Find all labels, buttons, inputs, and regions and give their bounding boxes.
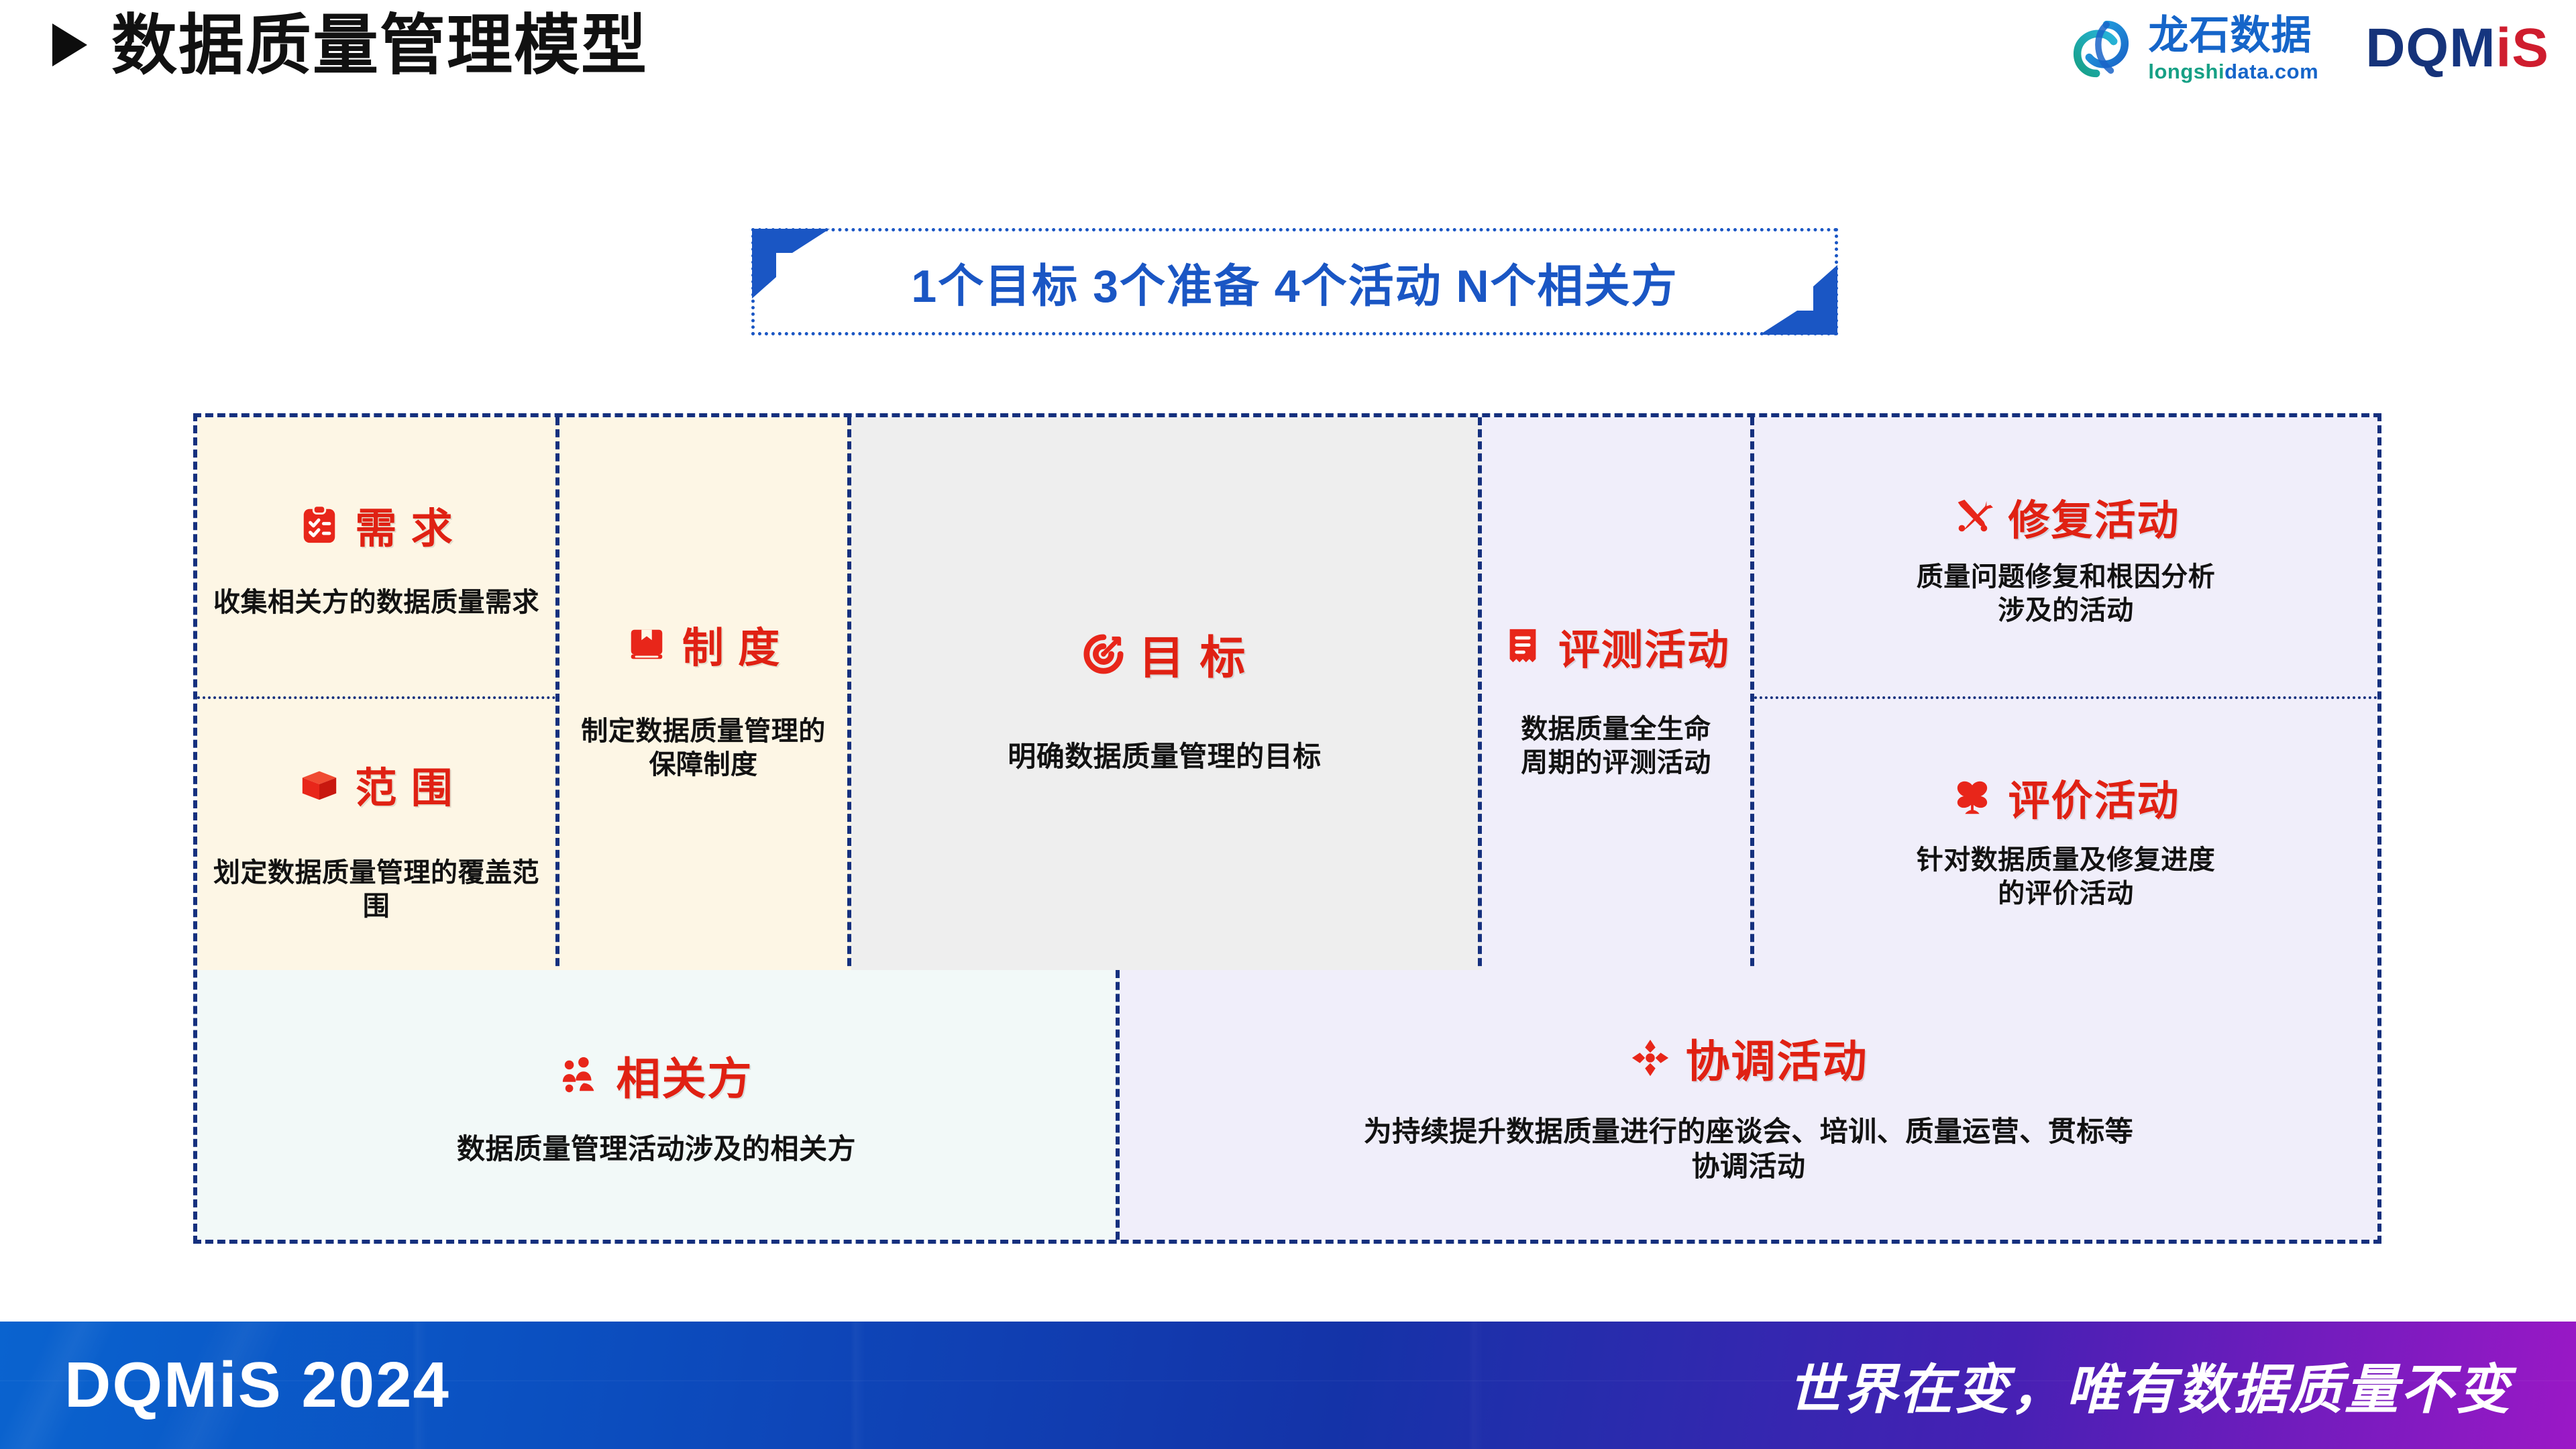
- card-repair-head: 修复活动: [1951, 486, 2180, 547]
- column-evaluation: 评测活动 数据质量全生命 周期的评测活动: [1482, 417, 1754, 978]
- dqmis-logo: DQMiS: [2365, 21, 2549, 76]
- column-stakeholder: 相关方 数据质量管理活动涉及的相关方: [197, 970, 1120, 1240]
- longshi-logo-cn: 龙石数据: [2148, 15, 2318, 56]
- people-group-icon: [560, 1055, 602, 1096]
- card-system-label: 制 度: [682, 614, 781, 674]
- clipboard-checklist-icon: [299, 504, 340, 545]
- card-assessment[interactable]: 评测活动 数据质量全生命 周期的评测活动: [1482, 417, 1750, 978]
- dqmis-logo-s: S: [2512, 17, 2549, 78]
- column-remediation: 修复活动 质量问题修复和根因分析 涉及的活动 评价活动 针对数据质量及修复进度 …: [1754, 417, 2377, 978]
- card-repair-desc: 质量问题修复和根因分析 涉及的活动: [1917, 560, 2216, 627]
- card-scope-head: 范 围: [299, 754, 453, 814]
- corner-accent-icon: [1757, 241, 1837, 335]
- card-assessment-head: 评测活动: [1502, 616, 1730, 676]
- card-appraisal-label: 评价活动: [2008, 767, 2180, 827]
- receipt-document-icon: [1502, 625, 1544, 667]
- card-coordination-label: 协调活动: [1686, 1026, 1868, 1090]
- model-top-row: 需 求 收集相关方的数据质量需求 范 围 划定数据质量管理的覆盖范围: [197, 417, 2377, 978]
- card-scope-label: 范 围: [355, 754, 453, 814]
- summary-banner-text: 1个目标 3个准备 4个活动 N个相关方: [911, 249, 1678, 315]
- footer-slogan: 世界在变，唯有数据质量不变: [1788, 1346, 2512, 1424]
- slide-footer: DQMiS 2024 世界在变，唯有数据质量不变: [0, 1322, 2576, 1449]
- longshi-logo-en-blue: data.com: [2224, 60, 2318, 83]
- card-requirement-label: 需 求: [355, 494, 453, 555]
- page-title: 数据质量管理模型: [111, 12, 648, 78]
- longshi-logo-en-green: longshi: [2148, 60, 2224, 83]
- card-coordination-head: 协调活动: [1629, 1026, 1868, 1090]
- card-assessment-label: 评测活动: [1558, 616, 1730, 676]
- column-coordination: 协调活动 为持续提升数据质量进行的座谈会、培训、质量运营、贯标等 协调活动: [1120, 970, 2377, 1240]
- corner-accent-icon: [752, 229, 833, 323]
- card-requirement-desc: 收集相关方的数据质量需求: [213, 586, 539, 619]
- card-goal-desc: 明确数据质量管理的目标: [1008, 739, 1322, 775]
- card-appraisal[interactable]: 评价活动 针对数据质量及修复进度 的评价活动: [1754, 699, 2377, 978]
- slide-root: 数据质量管理模型: [0, 0, 2576, 1449]
- card-appraisal-head: 评价活动: [1951, 767, 2180, 827]
- target-arrow-icon: [1083, 633, 1124, 675]
- card-repair[interactable]: 修复活动 质量问题修复和根因分析 涉及的活动: [1754, 417, 2377, 699]
- infinity-loop-icon: [2066, 13, 2136, 83]
- dqmis-logo-dq: DQ: [2365, 17, 2449, 78]
- card-assessment-desc: 数据质量全生命 周期的评测活动: [1521, 712, 1711, 780]
- column-preparation-2: 制 度 制定数据质量管理的 保障制度: [559, 417, 851, 978]
- column-goal: 目 标 明确数据质量管理的目标: [851, 417, 1482, 978]
- teamwork-hands-icon: [1629, 1037, 1671, 1079]
- card-repair-label: 修复活动: [2008, 486, 2180, 547]
- card-coordination-desc: 为持续提升数据质量进行的座谈会、培训、质量运营、贯标等 协调活动: [1364, 1114, 2134, 1185]
- slide-header: 数据质量管理模型: [0, 0, 2576, 127]
- dqmis-logo-i: i: [2496, 17, 2512, 78]
- card-requirement[interactable]: 需 求 收集相关方的数据质量需求: [197, 417, 555, 699]
- longshi-logo-text: 龙石数据 longshidata.com: [2148, 15, 2318, 82]
- card-goal[interactable]: 目 标 明确数据质量管理的目标: [851, 417, 1478, 978]
- tulip-flower-icon: [1951, 776, 1993, 818]
- card-goal-head: 目 标: [1083, 621, 1247, 687]
- card-stakeholder[interactable]: 相关方 数据质量管理活动涉及的相关方: [197, 970, 1116, 1240]
- wrench-screwdriver-icon: [1951, 496, 1993, 537]
- title-block: 数据质量管理模型: [52, 12, 648, 78]
- summary-banner: 1个目标 3个准备 4个活动 N个相关方: [751, 228, 1838, 335]
- model-bottom-row: 相关方 数据质量管理活动涉及的相关方 协调活动: [197, 970, 2377, 1240]
- model-grid: 需 求 收集相关方的数据质量需求 范 围 划定数据质量管理的覆盖范围: [193, 413, 2381, 1244]
- triangle-right-icon: [52, 23, 87, 66]
- book-icon: [626, 623, 667, 665]
- open-box-icon: [299, 763, 340, 805]
- longshi-logo: 龙石数据 longshidata.com: [2066, 13, 2318, 83]
- card-appraisal-desc: 针对数据质量及修复进度 的评价活动: [1917, 843, 2216, 910]
- logo-group: 龙石数据 longshidata.com DQMiS: [2066, 13, 2549, 83]
- card-requirement-head: 需 求: [299, 494, 453, 555]
- card-stakeholder-head: 相关方: [560, 1043, 753, 1108]
- card-coordination[interactable]: 协调活动 为持续提升数据质量进行的座谈会、培训、质量运营、贯标等 协调活动: [1120, 970, 2377, 1240]
- card-stakeholder-label: 相关方: [616, 1043, 753, 1108]
- card-stakeholder-desc: 数据质量管理活动涉及的相关方: [457, 1132, 856, 1167]
- card-system-desc: 制定数据质量管理的 保障制度: [581, 714, 826, 782]
- card-system[interactable]: 制 度 制定数据质量管理的 保障制度: [559, 417, 847, 978]
- card-scope-desc: 划定数据质量管理的覆盖范围: [209, 856, 543, 923]
- card-goal-label: 目 标: [1139, 621, 1247, 687]
- column-preparation-1: 需 求 收集相关方的数据质量需求 范 围 划定数据质量管理的覆盖范围: [197, 417, 559, 978]
- card-system-head: 制 度: [626, 614, 781, 674]
- card-scope[interactable]: 范 围 划定数据质量管理的覆盖范围: [197, 699, 555, 978]
- longshi-logo-en: longshidata.com: [2148, 61, 2318, 82]
- footer-brand: DQMiS 2024: [64, 1348, 450, 1422]
- dqmis-logo-m: M: [2449, 17, 2495, 78]
